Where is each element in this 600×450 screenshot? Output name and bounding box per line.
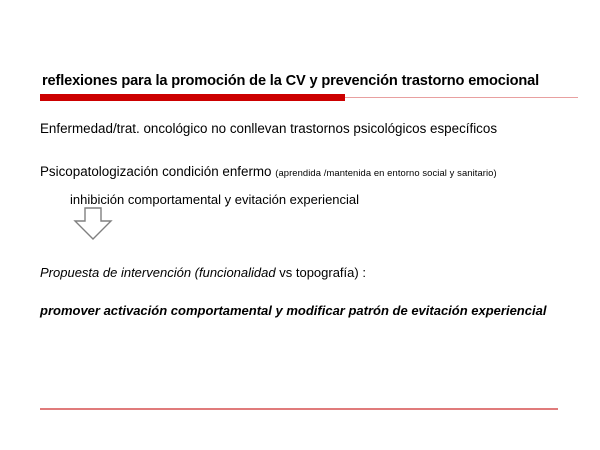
title-underline-bar [40,94,345,101]
body-line-2-main: Psicopatologización condición enfermo [40,164,272,179]
body-line-1: Enfermedad/trat. oncológico no conllevan… [40,120,497,138]
body-line-2-note: (aprendida /mantenida en entorno social … [275,167,496,178]
body-line-5: promover activación comportamental y mod… [40,302,546,320]
slide-canvas: reflexiones para la promoción de la CV y… [0,0,600,450]
body-line-4: Propuesta de intervención (funcionalidad… [40,264,366,282]
down-arrow-icon [73,207,113,241]
body-line-3: inhibición comportamental y evitación ex… [70,191,359,209]
page-title: reflexiones para la promoción de la CV y… [42,72,562,90]
body-line-2: Psicopatologización condición enfermo (a… [40,163,497,182]
body-line-4-upright: vs topografía) : [279,265,366,280]
body-line-4-italic: Propuesta de intervención (funcionalidad [40,265,276,280]
down-arrow-svg [73,207,113,241]
bottom-divider [40,408,558,410]
